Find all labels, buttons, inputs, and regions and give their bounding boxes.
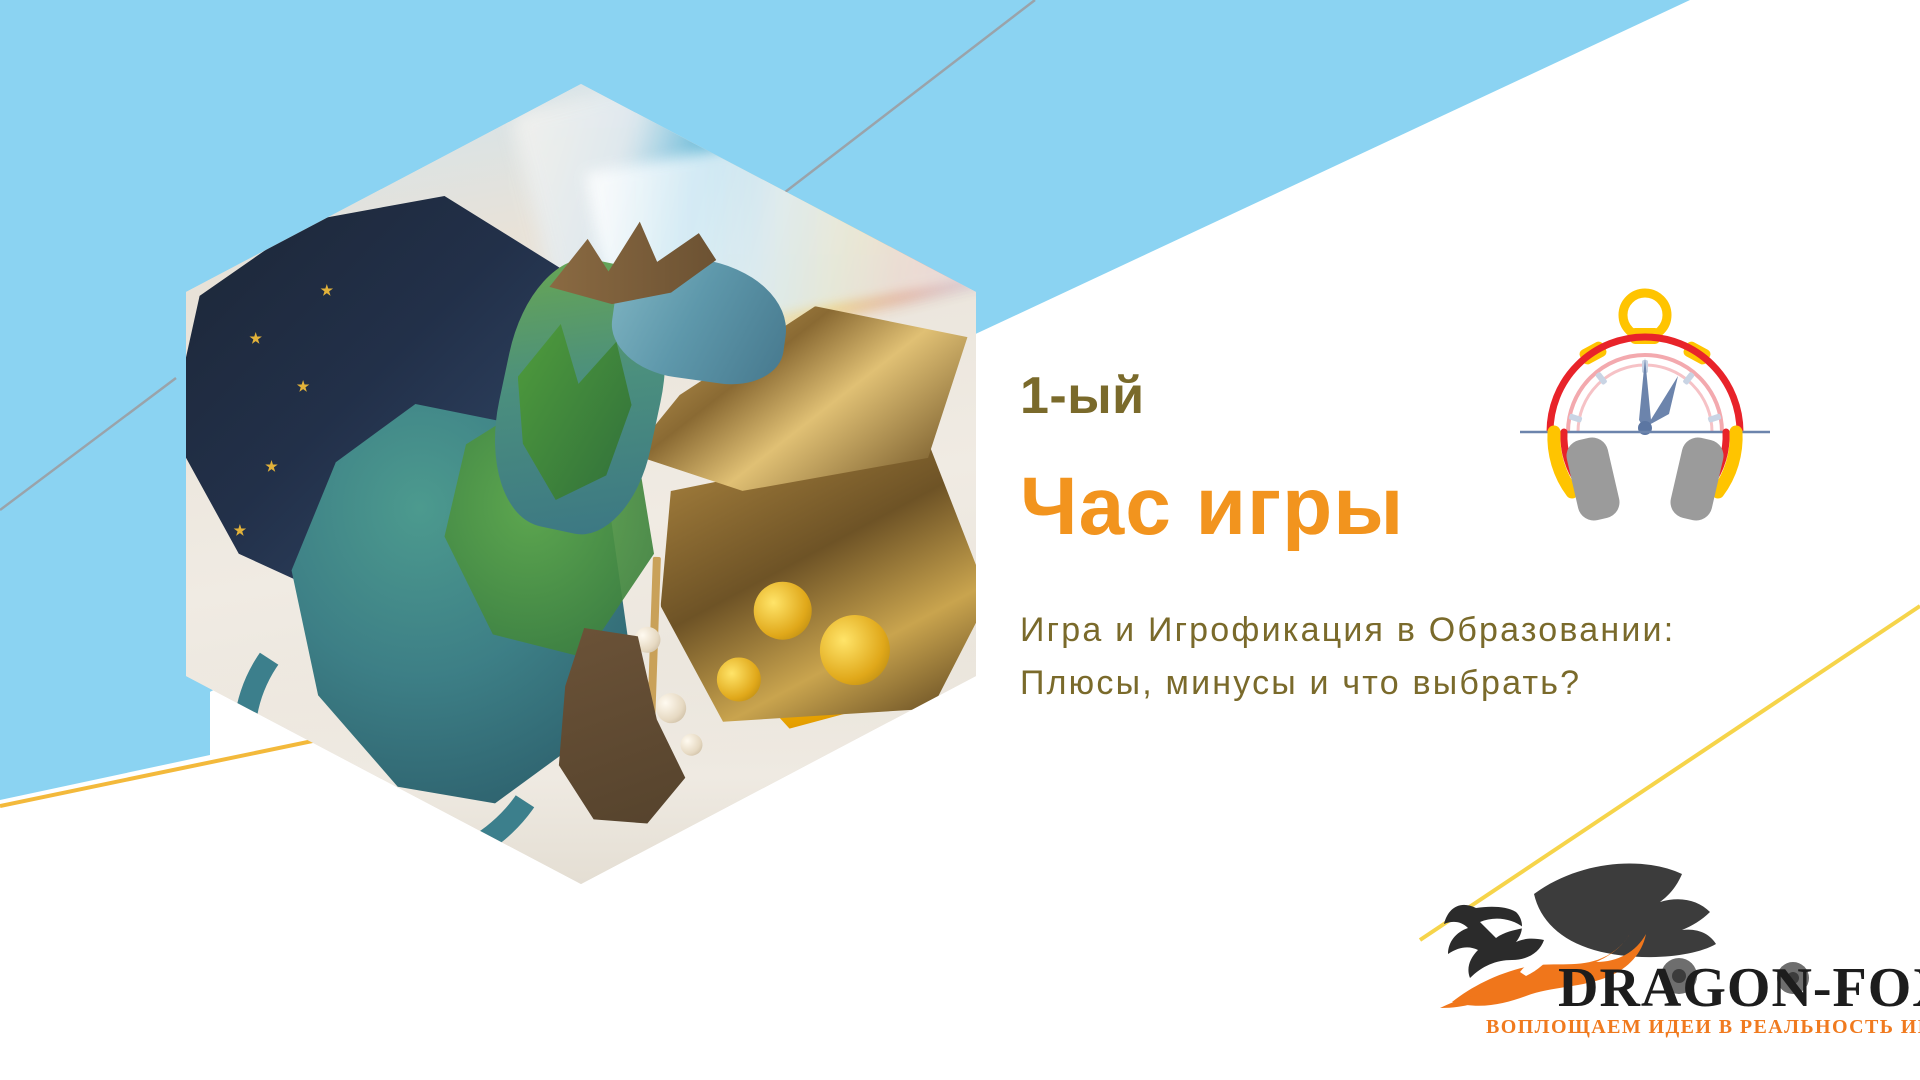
dragon-fox-logo[interactable]: DRAGON-FOX ВОПЛОЩАЕМ ИДЕИ В РЕАЛЬНОСТЬ И…	[1430, 850, 1890, 1060]
logo-tagline: ВОПЛОЩАЕМ ИДЕИ В РЕАЛЬНОСТЬ ИГР	[1486, 1016, 1920, 1039]
slide-text-column: 1-ый Час игры Игра и Игрофикация в Образ…	[1020, 370, 1810, 709]
chest-body	[643, 433, 976, 744]
presentation-slide: 1-ый Час игры Игра и Игрофикация в Образ…	[0, 0, 1920, 1080]
logo-wordmark: DRAGON-FOX	[1558, 956, 1920, 1020]
slide-subtitle-line-1: Игра и Игрофикация в Образовании:	[1020, 604, 1810, 657]
hero-photo-clip	[186, 84, 976, 884]
logo-bat-wing	[1534, 863, 1716, 957]
pearl-bead	[679, 732, 704, 757]
slide-headline: Час игры	[1020, 466, 1810, 548]
pearl-bead	[654, 691, 688, 725]
slide-eyebrow: 1-ый	[1020, 370, 1810, 422]
hero-photo-hexagon	[186, 84, 976, 884]
slide-subtitle-line-2: Плюсы, минусы и что выбрать?	[1020, 657, 1810, 710]
